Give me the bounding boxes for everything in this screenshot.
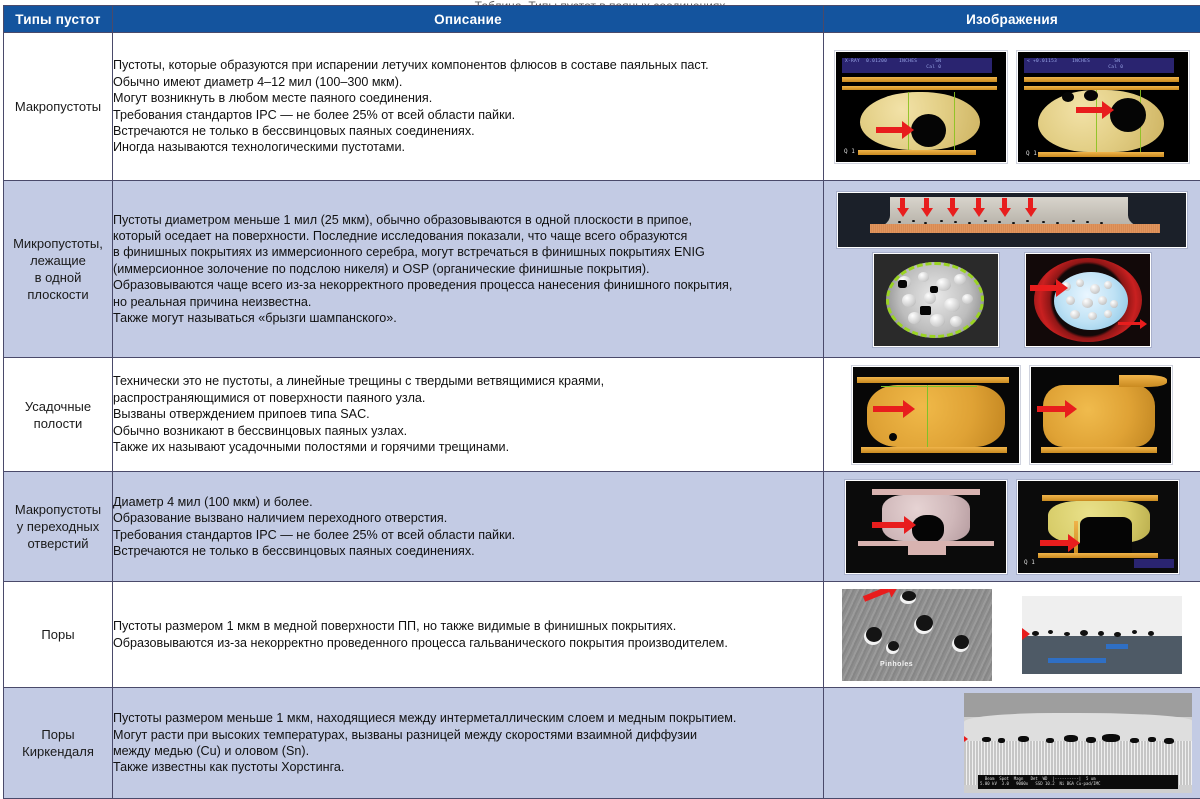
shrinkage-crack-image-1: [852, 366, 1020, 464]
table-row: Поры Киркендаля Пустоты размером меньше …: [4, 688, 1200, 799]
desc-line: Встречаются не только в бессвинцовых пая…: [113, 123, 823, 139]
annotation-mark: [1106, 644, 1128, 649]
table-row: Поры Пустоты размером 1 мкм в медной пов…: [4, 582, 1200, 688]
row-images: [824, 181, 1200, 358]
void-dot: [889, 433, 897, 441]
pinhole: [866, 627, 882, 642]
kirkendall-void: [1148, 737, 1156, 742]
row-type-label: Микропустоты, лежащие в одной плоскости: [13, 236, 103, 302]
gold-bar: [858, 150, 976, 155]
kirkendall-sem-image: Beam Spot Magn Det WD |----------| 5 um …: [964, 693, 1192, 793]
solder-blob: [1038, 90, 1164, 152]
row-type-kirkendall: Поры Киркендаля: [4, 688, 113, 799]
image-group: Q 1: [824, 480, 1200, 574]
via-void-image-2: Q 1: [1017, 480, 1179, 574]
desc-line: который оседает на поверхности. Последни…: [113, 228, 823, 244]
kirkendall-void: [1102, 734, 1120, 742]
desc-line: Образовываются из-за некорректно проведе…: [113, 635, 823, 651]
osd-badge: [1134, 559, 1174, 568]
gold-lead: [1119, 375, 1167, 387]
kirkendall-void: [1018, 736, 1029, 742]
desc-line: распространяющимися от поверхности паяно…: [113, 390, 823, 406]
measure-line: [954, 92, 955, 150]
desc-line: Иногда называются технологическими пусто…: [113, 139, 823, 155]
row-images: X-RAY 0.01200 INCHES SN Cal 0: [824, 33, 1200, 181]
desc-line: Пустоты размером меньше 1 мкм, находящие…: [113, 710, 823, 726]
image-group: X-RAY 0.01200 INCHES SN Cal 0: [824, 51, 1200, 163]
shrinkage-crack-image-2: [1030, 366, 1172, 464]
table-row: Микропустоты, лежащие в одной плоскости …: [4, 181, 1200, 358]
pinhole: [888, 641, 899, 651]
table-row: Усадочные полости Технически это не пуст…: [4, 358, 1200, 472]
header-type: Типы пустот: [4, 6, 113, 33]
corner-label: Q 1: [1026, 150, 1037, 157]
gold-bar: [842, 77, 997, 82]
desc-line: в финишных покрытиях из иммерсионного се…: [113, 244, 823, 260]
sem-label: Pinholes: [880, 661, 913, 668]
xray-osd-text: < +0.01153 INCHES SN Cal 0: [1024, 58, 1174, 73]
row-type-label: Поры: [41, 627, 74, 642]
desc-line: Пустоты размером 1 мкм в медной поверхно…: [113, 618, 823, 634]
xray-osd-text: X-RAY 0.01200 INCHES SN Cal 0: [842, 58, 992, 73]
microvoid-dots: [894, 220, 1114, 226]
image-group: Pinholes: [824, 589, 1200, 681]
row-description: Пустоты размером 1 мкм в медной поверхно…: [113, 582, 824, 688]
desc-line: Обычно возникают в бессвинцовых паяных у…: [113, 423, 823, 439]
pinhole: [902, 591, 916, 601]
desc-line: Встречаются не только в бессвинцовых пая…: [113, 543, 823, 559]
row-description: Пустоты, которые образуются при испарени…: [113, 33, 824, 181]
desc-line: Пустоты диаметром меньше 1 мил (25 мкм),…: [113, 212, 823, 228]
kirkendall-void: [982, 737, 991, 742]
via-void: [912, 515, 944, 543]
xray-macrovoid-image-2: < +0.01153 INCHES SN Cal 0: [1017, 51, 1189, 163]
desc-line: Могут расти при высоких температурах, вы…: [113, 727, 823, 743]
row-type-label: Макропустоты: [15, 99, 101, 114]
void-types-table: Типы пустот Описание Изображения Макропу…: [3, 5, 1200, 799]
kirkendall-void: [1164, 738, 1174, 744]
desc-line: Требования стандартов IPC — не более 25%…: [113, 527, 823, 543]
desc-line: Обычно имеют диаметр 4–12 мил (100–300 м…: [113, 74, 823, 90]
kirkendall-void: [1086, 737, 1096, 743]
image-group: Beam Spot Magn Det WD |----------| 5 um …: [824, 693, 1200, 793]
row-type-pores: Поры: [4, 582, 113, 688]
image-group: [824, 366, 1200, 464]
dark-void: [930, 286, 938, 293]
small-void: [1084, 90, 1098, 101]
row-images: Q 1: [824, 472, 1200, 582]
sem-scalebar: Beam Spot Magn Det WD |----------| 5 um …: [978, 775, 1178, 789]
macrovoid: [1110, 98, 1146, 132]
gold-bar: [857, 377, 1009, 383]
via-void-image-1: [845, 480, 1007, 574]
desc-line: (иммерсионное золочение по подслою никел…: [113, 261, 823, 277]
gold-bar: [1038, 152, 1164, 157]
dark-void: [920, 306, 931, 315]
gold-bar: [1041, 447, 1157, 453]
row-description: Пустоты диаметром меньше 1 мил (25 мкм),…: [113, 181, 824, 358]
kirkendall-void: [1130, 738, 1139, 743]
macrovoid: [911, 114, 946, 147]
pinhole: [916, 615, 933, 631]
kirkendall-void: [998, 738, 1005, 743]
microvoid-bubbles-image: [1025, 253, 1151, 347]
table-row: Макропустоты у переходных отверстий Диам…: [4, 472, 1200, 582]
kirkendall-void: [1046, 738, 1054, 743]
gold-bar: [1024, 77, 1179, 82]
row-type-via-macrovoids: Макропустоты у переходных отверстий: [4, 472, 113, 582]
header-description: Описание: [113, 6, 824, 33]
desc-line: Технически это не пустоты, а линейные тр…: [113, 373, 823, 389]
top-pad: [1042, 495, 1158, 501]
corner-label: Q 1: [1024, 559, 1035, 566]
image-group: [824, 192, 1200, 347]
bottom-pad: [1038, 553, 1158, 558]
desc-line: Также известны как пустоты Хорстинга.: [113, 759, 823, 775]
header-images: Изображения: [824, 6, 1200, 33]
desc-line: Также могут называться «брызги шампанско…: [113, 310, 823, 326]
small-void: [1062, 92, 1074, 102]
row-type-microvoids: Микропустоты, лежащие в одной плоскости: [4, 181, 113, 358]
row-images: [824, 358, 1200, 472]
table-row: Макропустоты Пустоты, которые образуются…: [4, 33, 1200, 181]
desc-line: но реальная причина неизвестна.: [113, 294, 823, 310]
gold-bar: [861, 447, 1007, 453]
table-head: Типы пустот Описание Изображения: [4, 6, 1200, 33]
row-type-label: Усадочные полости: [25, 399, 91, 431]
row-description: Диаметр 4 мил (100 мкм) и более. Образов…: [113, 472, 824, 582]
table-body: Макропустоты Пустоты, которые образуются…: [4, 33, 1200, 799]
corner-label: Q 1: [844, 148, 855, 155]
kirkendall-void: [1064, 735, 1078, 742]
row-images: Pinholes: [824, 582, 1200, 688]
row-type-label: Поры Киркендаля: [22, 727, 94, 759]
desc-line: Образование вызвано наличием переходного…: [113, 510, 823, 526]
plating-pores-cross-section-image: [1022, 596, 1182, 674]
row-description: Пустоты размером меньше 1 мкм, находящие…: [113, 688, 824, 799]
page-root: Таблица. Типы пустот в паяных соединения…: [0, 0, 1200, 776]
microvoid-cross-section-image: [837, 192, 1187, 248]
desc-line: Образовываются чаще всего из-за некоррек…: [113, 277, 823, 293]
xray-macrovoid-image-1: X-RAY 0.01200 INCHES SN Cal 0: [835, 51, 1007, 163]
xray-dashed-ring-image: [873, 253, 999, 347]
solder-blob: [867, 385, 1005, 447]
row-type-shrinkage: Усадочные полости: [4, 358, 113, 472]
desc-line: Пустоты, которые образуются при испарени…: [113, 57, 823, 73]
desc-line: Диаметр 4 мил (100 мкм) и более.: [113, 494, 823, 510]
image-subgroup: [873, 253, 1151, 347]
desc-line: между медью (Cu) и оловом (Sn).: [113, 743, 823, 759]
sem-pinholes-image: Pinholes: [842, 589, 992, 681]
pinhole: [954, 635, 969, 649]
gold-bar: [842, 86, 997, 90]
header-row: Типы пустот Описание Изображения: [4, 6, 1200, 33]
row-type-label: Макропустоты у переходных отверстий: [15, 502, 101, 551]
row-images: Beam Spot Magn Det WD |----------| 5 um …: [824, 688, 1200, 799]
solder-blob: [1043, 385, 1155, 447]
gold-bar: [1024, 86, 1179, 90]
via-barrel: [908, 541, 946, 555]
sem-surface: [842, 589, 992, 681]
desc-line: Также их называют усадочными полостями и…: [113, 439, 823, 455]
desc-line: Требования стандартов IPC — не более 25%…: [113, 107, 823, 123]
pore-dots: [1026, 630, 1176, 638]
top-pad: [872, 489, 980, 495]
row-type-macrovoids: Макропустоты: [4, 33, 113, 181]
measure-line: [881, 386, 977, 387]
desc-line: Могут возникнуть в любом месте паяного с…: [113, 90, 823, 106]
void-bubbles: [892, 268, 978, 332]
desc-line: Вызваны отверждением припоев типа SAC.: [113, 406, 823, 422]
measure-line: [927, 385, 928, 447]
substrate-layer: [1022, 636, 1182, 674]
row-description: Технически это не пустоты, а линейные тр…: [113, 358, 824, 472]
annotation-mark: [1048, 658, 1106, 663]
dark-void: [898, 280, 907, 288]
